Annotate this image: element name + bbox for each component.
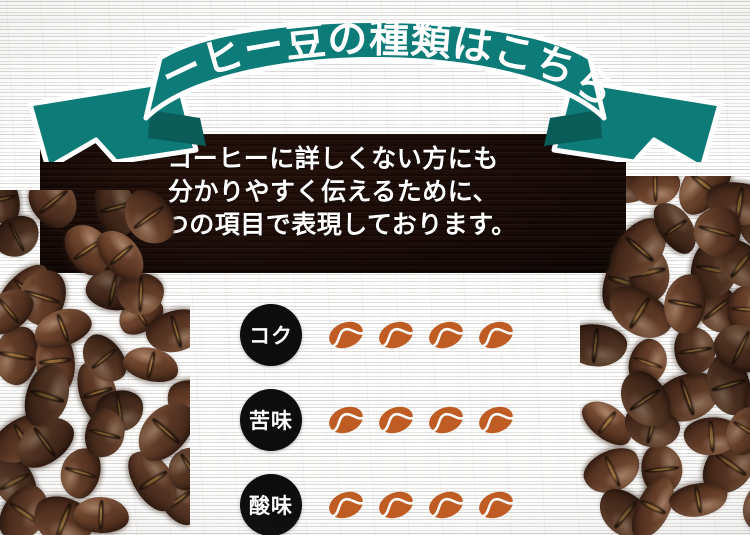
coffee-bean-photo: [580, 320, 629, 369]
rating-label-text: コク: [249, 320, 293, 350]
rating-label-badge: 酸味: [240, 474, 302, 535]
coffee-bean-icon: [427, 404, 465, 436]
coffee-bean-icon: [327, 319, 365, 351]
coffee-bean-icon: [377, 404, 415, 436]
ribbon-banner: コーヒー豆の種類はこちら!: [0, 22, 750, 162]
coffee-bean-icon: [377, 489, 415, 521]
coffee-bean-icon: [327, 404, 365, 436]
coffee-bean-icon: [427, 489, 465, 521]
coffee-bean-icon: [477, 319, 515, 351]
coffee-bean-icon: [477, 404, 515, 436]
rating-beans-sanmi: [327, 489, 515, 521]
rating-label-text: 酸味: [249, 490, 293, 520]
rating-beans-koku: [327, 319, 515, 351]
coffee-beans-photo-left: [0, 190, 190, 535]
rating-label-text: 苦味: [249, 405, 293, 435]
rating-list: コク 苦味 酸味: [240, 292, 540, 535]
rating-row-nigami: 苦味: [240, 377, 540, 462]
coffee-bean-icon: [427, 319, 465, 351]
coffee-bean-icon: [377, 319, 415, 351]
rating-row-koku: コク: [240, 292, 540, 377]
coffee-bean-icon: [477, 489, 515, 521]
ribbon-band: [146, 22, 604, 118]
rating-label-badge: コク: [240, 304, 302, 366]
coffee-bean-icon: [327, 489, 365, 521]
promo-banner-stage: コーヒーに詳しくない方にも 分かりやすく伝えるために、 3つの項目で表現しており…: [0, 0, 750, 535]
coffee-bean-photo: [73, 496, 130, 534]
rating-beans-nigami: [327, 404, 515, 436]
rating-label-badge: 苦味: [240, 389, 302, 451]
rating-row-sanmi: 酸味: [240, 462, 540, 535]
